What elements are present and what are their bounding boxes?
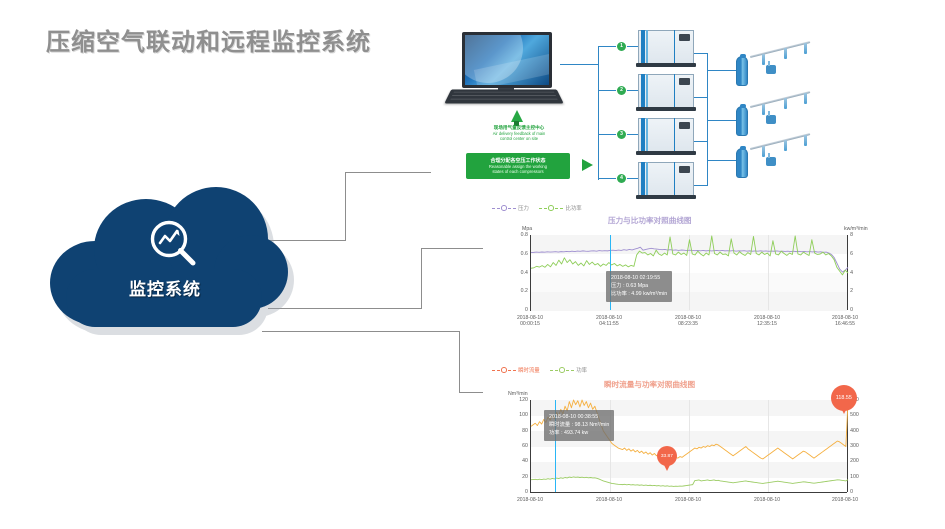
xtick: 2018-08-10 04:11:55 [596,315,622,328]
drop-line [804,43,807,54]
pipe-out-4 [694,185,708,186]
tooltip-row-1: 压力 : 0.63 Mpa [611,282,667,290]
air-tank-icon [736,106,748,136]
pressure-power-chart[interactable]: 压力 比功率 压力与比功率对照曲线图 Mpa kw/m³/min 0.8 0.6… [484,204,886,332]
ytick-right: 200 [850,458,859,464]
ytick: 120 [519,397,528,403]
tooltip-time: 2018-08-10 00:38:55 [549,413,609,421]
xtick-line1: 2018-08-10 [517,497,543,503]
legend-ring [548,205,554,211]
connector-1-vertical [345,172,346,241]
connector-1-horizontal-right [345,172,431,173]
ytick-right: 100 [850,474,859,480]
ytick-right: 500 [850,412,859,418]
assign-status-en-2: states of each compressors [492,169,543,174]
xtick-line2: 16:46:55 [832,321,858,327]
drop-line [784,140,787,151]
site-caption-en-2: control center on site [460,136,578,141]
tooltip-row-2: 功率 : 493.74 kw [549,429,609,437]
drop-line [762,146,765,157]
legend-dash [492,370,500,371]
legend-ring [559,367,565,373]
pipe-out-2 [694,97,708,98]
ytick: 40 [522,458,528,464]
distribution-rail [750,91,811,108]
legend-ring [501,205,507,211]
monitoring-system-cloud[interactable]: 监控系统 [36,185,294,330]
node-3: 3 [617,130,626,139]
legend-dash [566,370,574,371]
legend-ring [501,367,507,373]
air-compressor-icon [638,30,694,67]
xtick: 2018-08-10 00:00:15 [517,315,543,328]
min-value-marker[interactable]: 33.87 [657,446,677,466]
node-1: 1 [617,42,626,51]
chart1-legend[interactable]: 压力 比功率 [492,204,591,212]
page-title: 压缩空气联动和远程监控系统 [46,22,371,57]
ytick: 0.4 [521,270,528,276]
xtick: 2018-08-10 [596,497,622,503]
ytick-right: 0 [850,307,853,313]
drop-line [804,135,807,146]
max-marker-label: 118.55 [836,395,852,401]
chart2-legend[interactable]: 瞬时流量 功率 [492,366,596,374]
desktop-monitor-icon [462,32,552,94]
xtick: 2018-08-10 [832,497,858,503]
legend-item-pressure[interactable]: 压力 [492,204,529,212]
legend-dash [555,208,563,209]
drop-line [784,48,787,59]
air-compressor-icon [638,118,694,155]
chart1-plot-area[interactable]: 0.8 0.6 0.4 0.2 0 8 6 4 2 0 [530,235,847,311]
connector-3-horizontal-right [459,392,483,393]
min-marker-label: 33.87 [661,454,673,459]
air-tank-icon [736,56,748,86]
ytick-right: 2 [850,288,853,294]
pipe-right-bus [707,53,708,185]
ytick: 0.8 [521,232,528,238]
pipe-out-3 [694,141,708,142]
pneumatic-tool-icon [766,115,776,124]
ytick-right: 8 [850,232,853,238]
xtick: 2018-08-10 [675,497,701,503]
xtick-line1: 2018-08-10 [596,497,622,503]
connector-2-vertical [421,248,422,309]
ytick: 0 [525,307,528,313]
legend-item-specific-power[interactable]: 比功率 [539,204,581,212]
air-tank-icon [736,148,748,178]
ytick: 0.2 [521,288,528,294]
drop-line [804,93,807,104]
xtick-line2: 04:11:55 [596,321,622,327]
ytick: 100 [519,412,528,418]
drop-line [762,104,765,115]
flow-power-chart[interactable]: 瞬时流量 功率 瞬时流量与功率对照曲线图 Nm³/min 120 100 80 … [484,366,886,526]
pneumatic-tool-icon [766,65,776,74]
chart2-tooltip: 2018-08-10 00:38:55 瞬时流量 : 98.13 Nm³/min… [544,410,614,441]
xtick: 2018-08-10 08:23:35 [675,315,701,328]
xtick-line2: 00:00:15 [517,321,543,327]
assign-status-callout: 合理分配各空压工作状态 Reasonable assign the workin… [466,153,570,179]
ytick: 0.6 [521,251,528,257]
node-4: 4 [617,174,626,183]
tooltip-row-2: 比功率 : 4.99 kw/m³/min [611,290,667,298]
ytick: 0 [525,489,528,495]
air-compressor-icon [638,74,694,111]
ytick: 20 [522,474,528,480]
chart2-title: 瞬时流量与功率对照曲线图 [604,379,695,390]
legend-label: 功率 [576,368,587,374]
tooltip-row-1: 瞬时流量 : 98.13 Nm³/min [549,421,609,429]
legend-dash [550,370,558,371]
ytick-right: 6 [850,251,853,257]
xtick-line1: 2018-08-10 [675,497,701,503]
chart1-ylabel-right: kw/m³/min [844,226,868,232]
legend-dash [539,208,547,209]
drop-line [762,54,765,65]
xtick-line2: 08:23:35 [675,321,701,327]
xtick-line1: 2018-08-10 [832,497,858,503]
connector-3-vertical [459,331,460,393]
ytick-right: 400 [850,428,859,434]
legend-label: 瞬时流量 [518,368,540,374]
system-topology-diagram: 现场用气量反馈主控中心 Air delivery feedback of mai… [432,20,945,210]
air-compressor-icon [638,162,694,199]
ytick-right: 0 [850,489,853,495]
slide-canvas: 压缩空气联动和远程监控系统 监控系统 [0,0,945,529]
pipe-out-1 [694,53,708,54]
xtick: 2018-08-10 [754,497,780,503]
ytick-right: 300 [850,443,859,449]
chart1-title: 压力与比功率对照曲线图 [608,215,692,226]
xtick: 2018-08-10 [517,497,543,503]
drop-line [784,98,787,109]
legend-dash [508,208,516,209]
pneumatic-tool-icon [766,157,776,166]
legend-label: 比功率 [565,206,581,212]
magnifier-chart-icon [146,216,202,272]
cloud-label: 监控系统 [36,275,294,300]
site-caption: 现场用气量反馈主控中心 Air delivery feedback of mai… [460,125,578,141]
xtick-line1: 2018-08-10 [754,497,780,503]
legend-label: 压力 [518,206,529,212]
distribution-rail [750,41,811,58]
xtick: 2018-08-10 16:46:55 [832,315,858,328]
pipe-left-bus [598,46,599,180]
node-2: 2 [617,86,626,95]
legend-item-power[interactable]: 功率 [550,366,587,374]
ytick: 60 [522,443,528,449]
legend-item-instant-flow[interactable]: 瞬时流量 [492,366,540,374]
connector-2-horizontal-right [421,248,483,249]
keyboard-icon [444,89,563,103]
max-value-marker[interactable]: 118.55 [831,385,857,411]
chart1-tooltip: 2018-08-10 02:19:55 压力 : 0.63 Mpa 比功率 : … [606,271,672,302]
pipe-monitor-to-bus [560,64,598,65]
ytick-right: 4 [850,270,853,276]
legend-dash [508,370,516,371]
right-arrow-icon [582,159,593,171]
ytick: 80 [522,428,528,434]
tooltip-time: 2018-08-10 02:19:55 [611,274,667,282]
chart1-series-paths [531,235,848,311]
xtick-line2: 12:35:15 [754,321,780,327]
legend-dash [492,208,500,209]
distribution-rail [750,133,811,150]
xtick: 2018-08-10 12:35:15 [754,315,780,328]
